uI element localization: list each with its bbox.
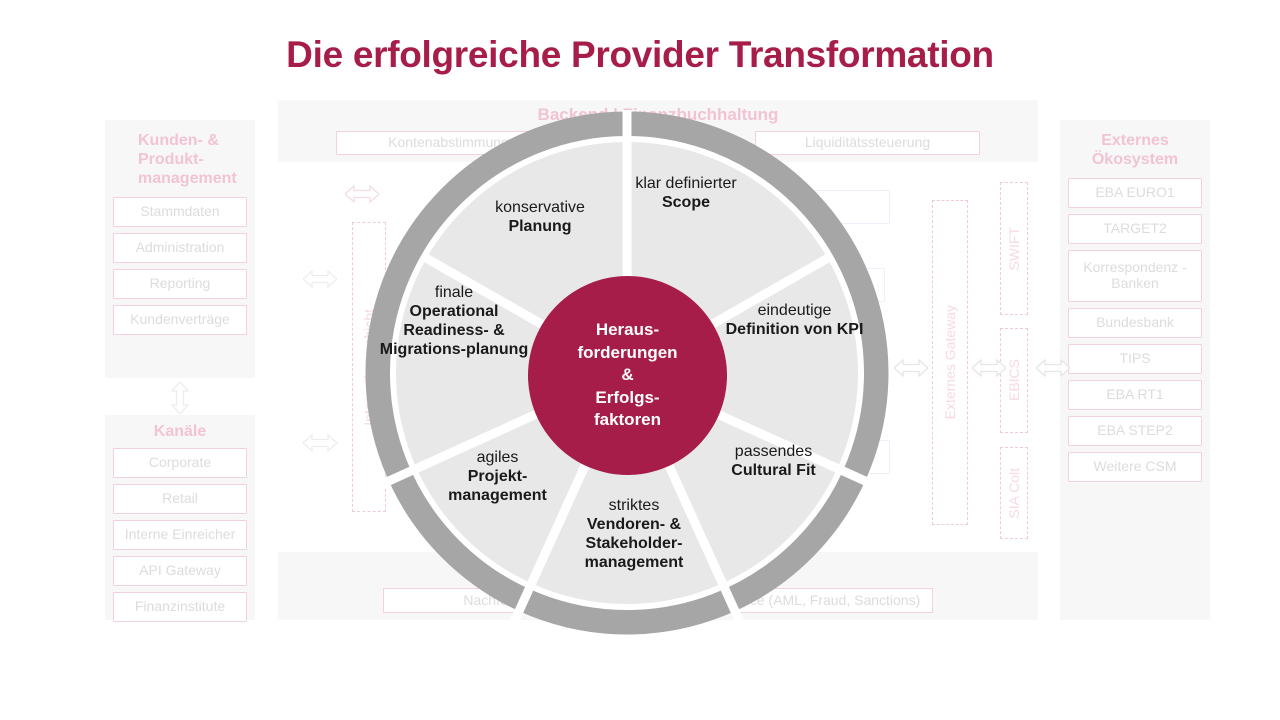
segment-planung-prefix: konservative [470,198,610,217]
chip-corporate[interactable]: Corporate [113,448,247,478]
center-line-1: Heraus- [577,319,677,342]
segment-label-operational-readiness: finale Operational Readiness- & Migratio… [378,283,530,359]
chip-bundesbank[interactable]: Bundesbank [1068,308,1202,338]
panel-kunden-title-line1: Kunden- & [138,132,245,151]
segment-readiness-prefix: finale [378,283,530,302]
chip-eba-rt1[interactable]: EBA RT1 [1068,380,1202,410]
segment-scope-bold: Scope [662,194,710,211]
panel-kunden-items: Stammdaten Administration Reporting Kund… [105,197,255,335]
center-circle-text: Heraus- forderungen & Erfolgs- faktoren [577,319,677,432]
vbox-sia-colt: SIA Colt [1000,447,1028,539]
center-line-2: forderungen [577,342,677,365]
segment-vendoren-bold: Vendoren- & Stakeholder-management [585,516,684,571]
panel-extern-items: EBA EURO1 TARGET2 Korrespondenz - Banken… [1060,178,1210,482]
chip-retail[interactable]: Retail [113,484,247,514]
chip-administration[interactable]: Administration [113,233,247,263]
chip-eba-euro1[interactable]: EBA EURO1 [1068,178,1202,208]
segment-label-kpi: eindeutige Definition von KPI [722,301,867,339]
panel-extern-title-line2: Ökosystem [1060,151,1210,170]
center-line-3: & [577,364,677,387]
panel-kunden-title-line2: Produkt- [138,151,245,170]
segment-cultural-prefix: passendes [706,442,841,461]
panel-externes-oekosystem: Externes Ökosystem EBA EURO1 TARGET2 Kor… [1060,120,1210,620]
panel-kanaele: Kanäle Corporate Retail Interne Einreich… [105,415,255,620]
chip-api-gateway[interactable]: API Gateway [113,556,247,586]
vbox-swift-label: SWIFT [1006,227,1022,271]
center-line-4: Erfolgs- [577,387,677,410]
panel-kanaele-items: Corporate Retail Interne Einreicher API … [105,448,255,622]
chip-finanzinstitute[interactable]: Finanzinstitute [113,592,247,622]
vbox-externes-gateway: Externes Gateway [932,200,968,525]
segment-planung-bold: Planung [508,218,571,235]
chip-interne-einreicher[interactable]: Interne Einreicher [113,520,247,550]
segment-label-vendoren: striktes Vendoren- & Stakeholder-managem… [548,496,720,572]
center-line-5: faktoren [577,409,677,432]
chip-korrespondenz-banken[interactable]: Korrespondenz - Banken [1068,250,1202,302]
segment-readiness-bold: Operational Readiness- & Migrations-plan… [380,303,528,358]
segment-projekt-prefix: agiles [420,448,575,467]
panel-extern-title: Externes Ökosystem [1060,120,1210,178]
vbox-externes-gateway-label: Externes Gateway [942,305,958,419]
vertical-double-arrow-icon [171,382,189,414]
chip-target2[interactable]: TARGET2 [1068,214,1202,244]
vbox-sia-colt-label: SIA Colt [1006,468,1022,519]
vbox-swift: SWIFT [1000,182,1028,315]
segment-kpi-bold: Definition von KPI [726,321,864,338]
horizontal-double-arrow-icon-2 [303,434,337,452]
panel-kanaele-title: Kanäle [105,415,255,448]
chip-reporting[interactable]: Reporting [113,269,247,299]
chip-stammdaten[interactable]: Stammdaten [113,197,247,227]
segment-projekt-bold: Projekt-management [448,468,547,504]
horizontal-double-arrow-icon-1 [303,270,337,288]
segment-label-cultural-fit: passendes Cultural Fit [706,442,841,480]
segment-scope-prefix: klar definierter [626,174,746,193]
panel-extern-title-line1: Externes [1060,132,1210,151]
segment-label-planung: konservative Planung [470,198,610,236]
vbox-ebics: EBICS [1000,328,1028,433]
chip-weitere-csm[interactable]: Weitere CSM [1068,452,1202,482]
segment-kpi-prefix: eindeutige [722,301,867,320]
panel-kunden-title-line3: management [138,170,245,189]
segment-cultural-bold: Cultural Fit [731,462,815,479]
panel-kunden-title: Kunden- & Produkt- management [105,120,255,197]
horizontal-double-arrow-icon-5 [1036,359,1070,377]
chip-kundenvertraege[interactable]: Kundenverträge [113,305,247,335]
panel-kunden-produktmanagement: Kunden- & Produkt- management Stammdaten… [105,120,255,378]
chip-tips[interactable]: TIPS [1068,344,1202,374]
center-circle: Heraus- forderungen & Erfolgs- faktoren [528,276,727,475]
segment-label-scope: klar definierter Scope [626,174,746,212]
segment-label-projektmanagement: agiles Projekt-management [420,448,575,505]
chip-eba-step2[interactable]: EBA STEP2 [1068,416,1202,446]
vbox-ebics-label: EBICS [1006,359,1022,401]
horizontal-double-arrow-icon-4 [972,359,1006,377]
